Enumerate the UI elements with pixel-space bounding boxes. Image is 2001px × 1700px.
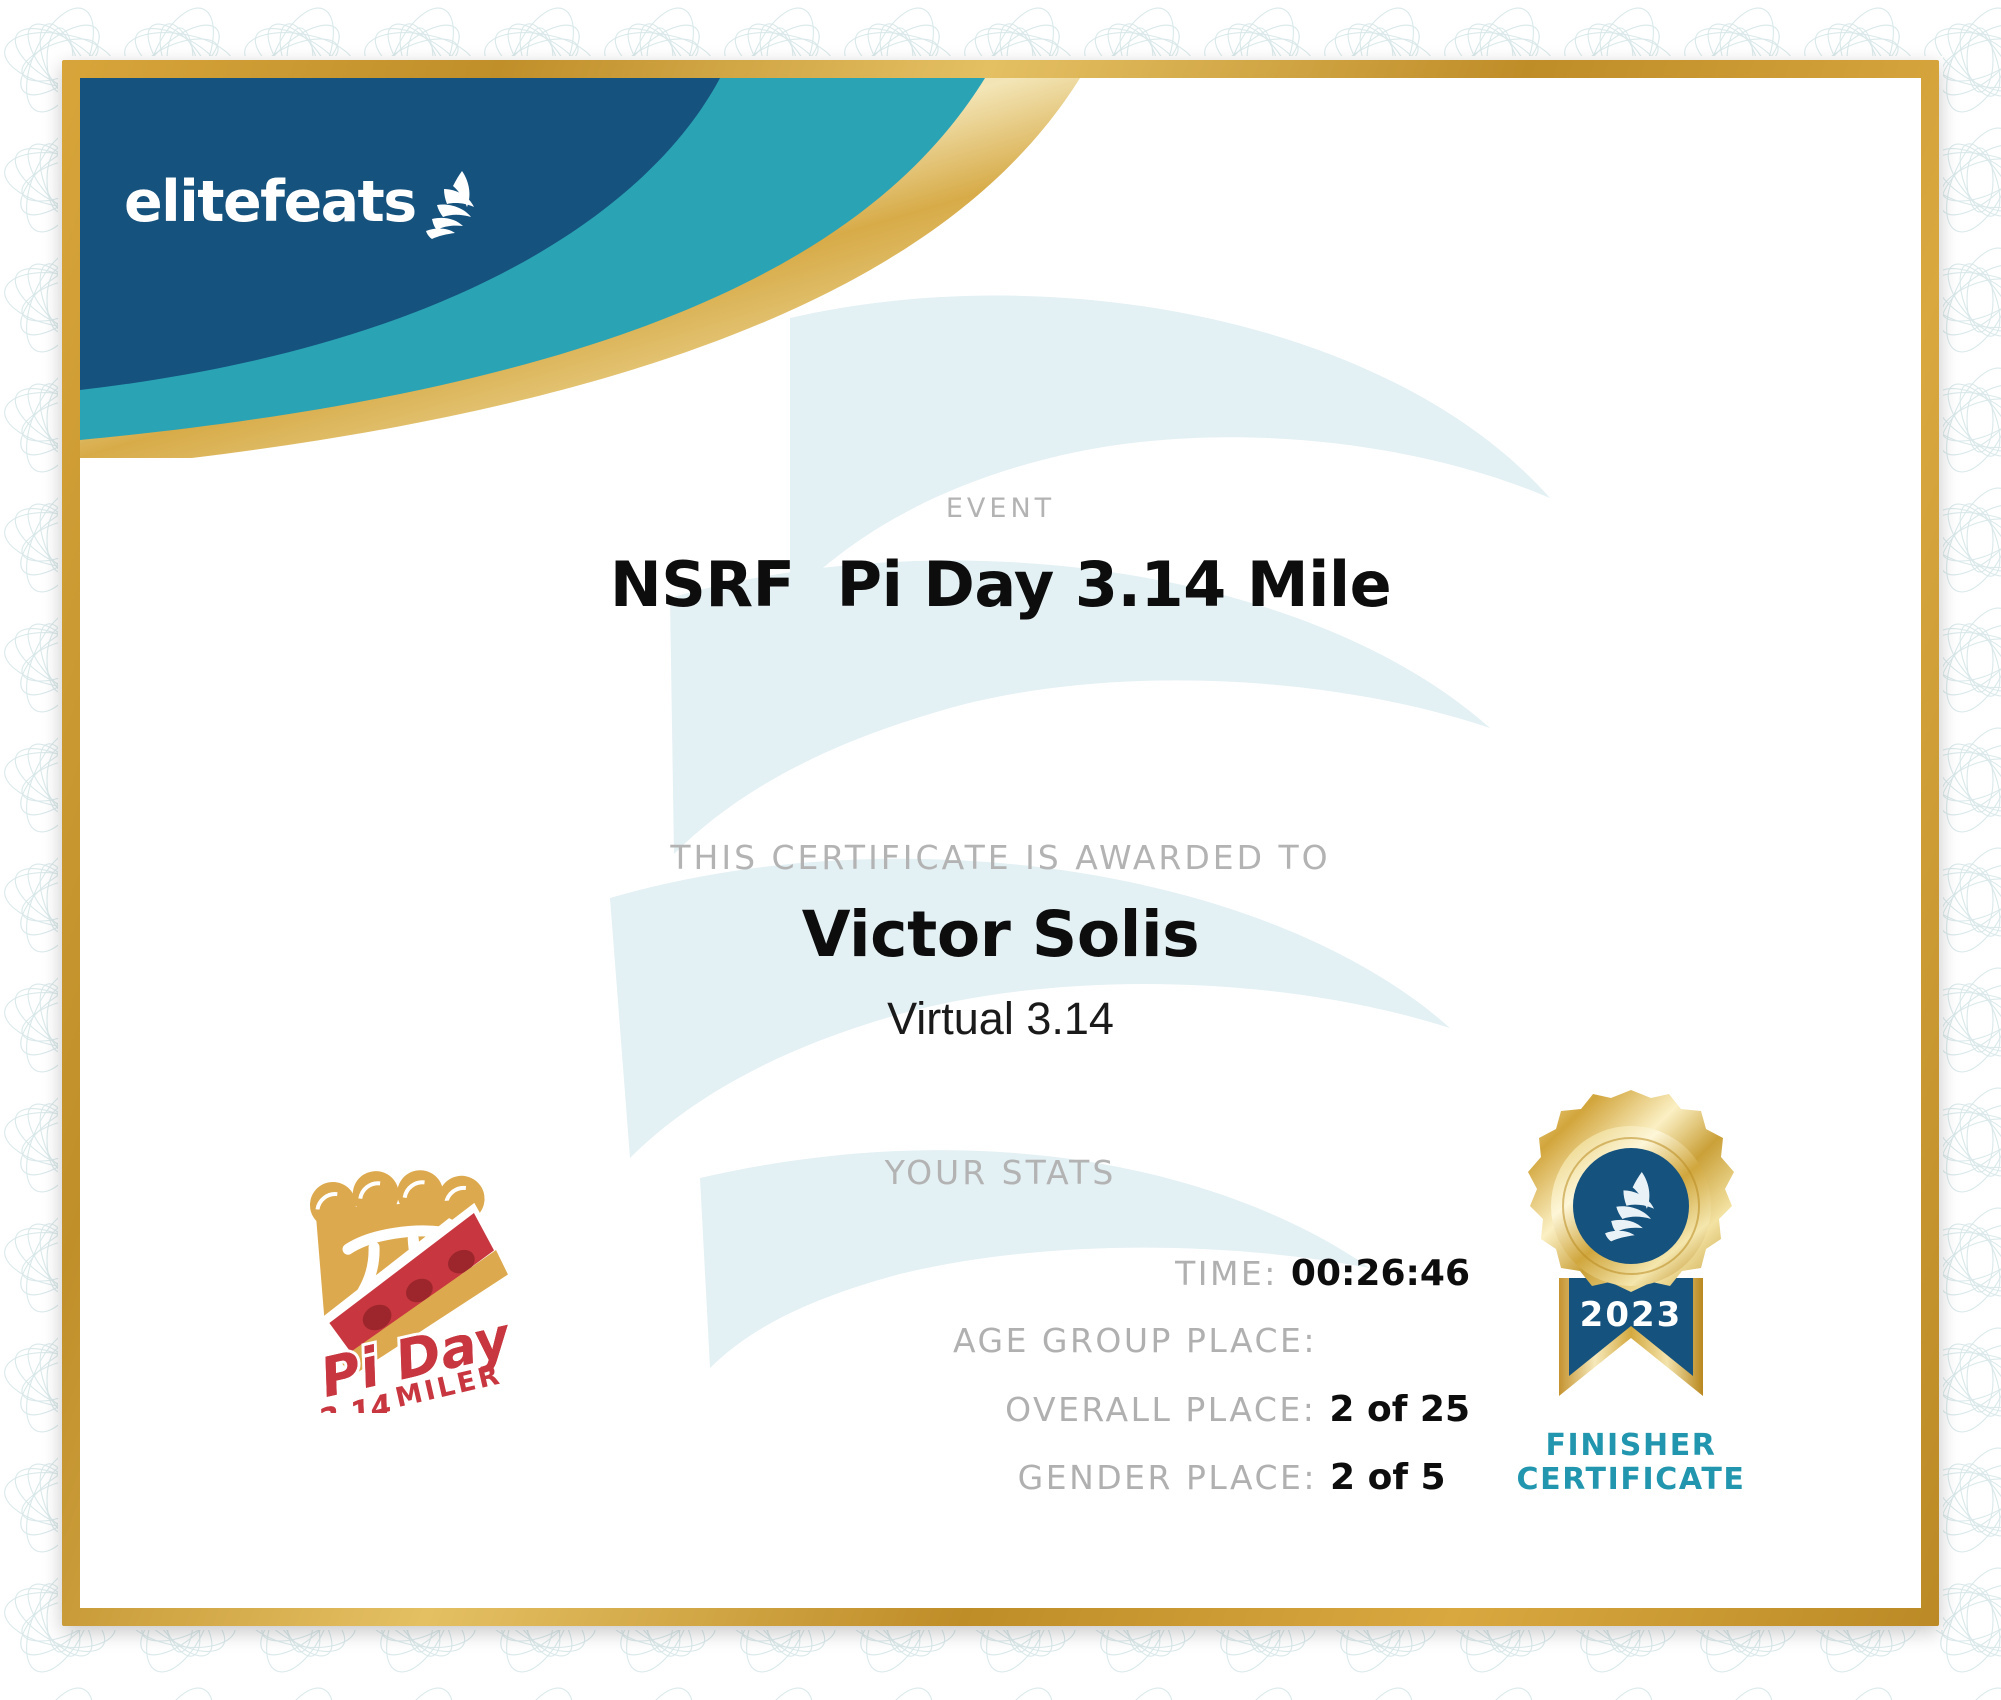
gold-medal-rosette-icon: 2023 — [1481, 1088, 1781, 1418]
header-banner: elitefeats — [80, 78, 1921, 458]
stat-value-time: 00:26:46 — [1291, 1253, 1470, 1294]
winged-foot-icon — [422, 169, 484, 241]
stat-row-age-group-place: AGE GROUP PLACE: — [510, 1321, 1470, 1389]
recipient-name: Victor Solis — [80, 898, 1921, 971]
stat-row-time: TIME: 00:26:46 — [510, 1253, 1470, 1321]
certificate-paper: elitefeats EVENT NSRF Pi Day 3.14 Mile — [80, 78, 1921, 1608]
finisher-badge: 2023 — [1481, 1088, 1781, 1496]
recipient-subtitle: Virtual 3.14 — [80, 993, 1921, 1045]
stat-key-overall-place: OVERALL PLACE: — [1005, 1390, 1316, 1429]
badge-caption-line2: CERTIFICATE — [1481, 1463, 1781, 1497]
badge-caption-line1: FINISHER — [1481, 1429, 1781, 1463]
badge-year: 2023 — [1580, 1295, 1683, 1335]
stat-key-gender-place: GENDER PLACE: — [1018, 1458, 1317, 1497]
stat-row-gender-place: GENDER PLACE: 2 of 5 — [510, 1457, 1470, 1525]
event-title: NSRF Pi Day 3.14 Mile — [80, 548, 1921, 621]
certificate-page: elitefeats EVENT NSRF Pi Day 3.14 Mile — [0, 0, 2001, 1700]
stats-list: TIME: 00:26:46 AGE GROUP PLACE: OVERALL … — [510, 1253, 1470, 1525]
stat-row-overall-place: OVERALL PLACE: 2 of 25 — [510, 1389, 1470, 1457]
stat-key-age-group-place: AGE GROUP PLACE: — [953, 1321, 1317, 1360]
awarded-to-label: THIS CERTIFICATE IS AWARDED TO — [80, 838, 1921, 877]
stat-value-overall-place: 2 of 25 — [1329, 1389, 1470, 1430]
stat-value-gender-place: 2 of 5 — [1330, 1457, 1470, 1498]
badge-emblem-disc — [1573, 1148, 1689, 1264]
stat-key-time: TIME: — [1175, 1254, 1278, 1293]
pi-day-pie-slice-icon: Pi Day Pi Day 3.14 3.14 MILER — [268, 1153, 538, 1413]
event-label: EVENT — [80, 493, 1921, 524]
badge-caption: FINISHER CERTIFICATE — [1481, 1429, 1781, 1496]
brand-wordmark: elitefeats — [124, 174, 416, 231]
brand-logo: elitefeats — [124, 163, 484, 241]
gold-frame: elitefeats EVENT NSRF Pi Day 3.14 Mile — [62, 60, 1939, 1626]
